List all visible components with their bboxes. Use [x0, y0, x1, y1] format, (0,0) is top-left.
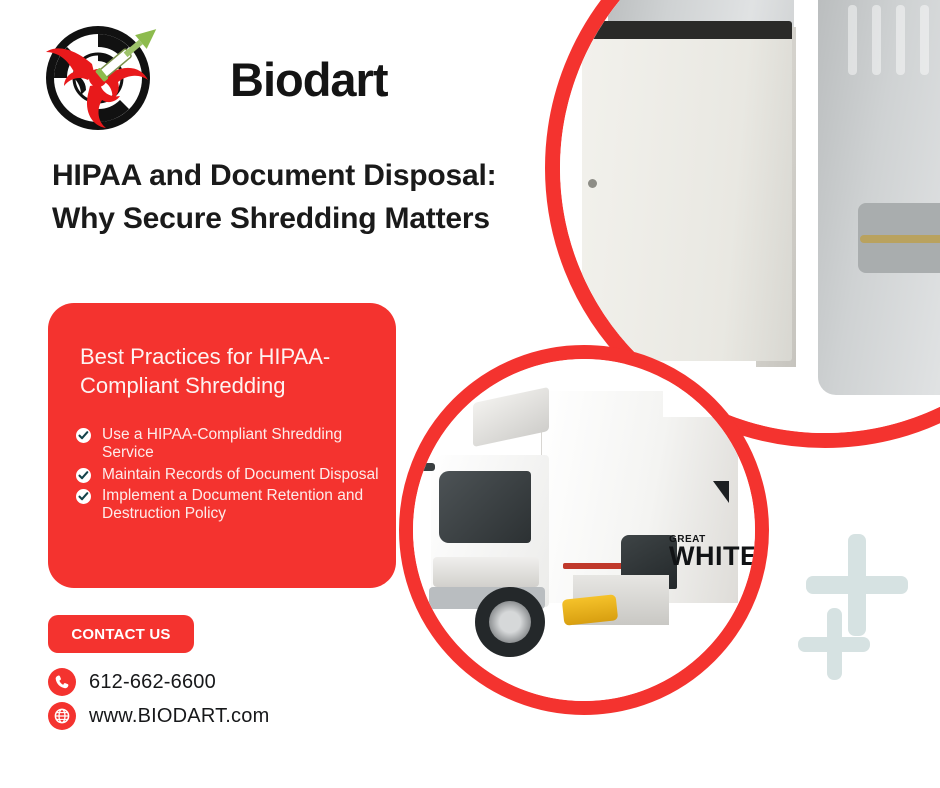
- truck-mirror: [421, 463, 435, 471]
- phone-number: 612-662-6600: [89, 671, 216, 694]
- bin-rib: [872, 5, 881, 75]
- truck-hopper: [473, 387, 549, 447]
- check-circle-icon: [76, 428, 91, 443]
- shredding-console-lock-icon: [588, 179, 597, 188]
- panel-heading: Best Practices for HIPAA-Compliant Shred…: [80, 343, 356, 400]
- plus-icon-small: [798, 608, 870, 680]
- website-contact-row[interactable]: www.BIODART.com: [48, 702, 269, 730]
- truck-windshield: [439, 471, 531, 543]
- truck-tail-lights: [563, 563, 623, 569]
- phone-icon: [48, 668, 76, 696]
- truck-brand-decal: GREAT WHITE: [669, 535, 755, 569]
- truck-box-step: [663, 381, 737, 417]
- shredding-console-slot: [582, 21, 792, 39]
- list-item: Maintain Records of Document Disposal: [76, 466, 388, 484]
- globe-icon: [48, 702, 76, 730]
- poster-canvas: GREAT WHITE: [0, 0, 940, 788]
- brand-name: Biodart: [230, 52, 388, 107]
- truck-grille: [433, 557, 539, 587]
- bin-handle-bar: [860, 235, 940, 243]
- page-title: HIPAA and Document Disposal: Why Secure …: [52, 155, 572, 240]
- list-item-label: Use a HIPAA-Compliant Shredding Service: [102, 426, 342, 461]
- contact-us-button[interactable]: CONTACT US: [48, 615, 194, 653]
- best-practices-list: Use a HIPAA-Compliant Shredding Service …: [76, 426, 388, 526]
- bin-rib: [896, 5, 905, 75]
- waste-bin-front: [818, 0, 940, 395]
- shredding-console-cabinet: [582, 31, 792, 361]
- truck-photo: GREAT WHITE: [413, 359, 755, 701]
- best-practices-panel: Best Practices for HIPAA-Compliant Shred…: [48, 303, 396, 588]
- phone-contact-row[interactable]: 612-662-6600: [48, 668, 216, 696]
- website-url: www.BIODART.com: [89, 705, 269, 728]
- list-item-label: Maintain Records of Document Disposal: [102, 466, 379, 483]
- check-circle-icon: [76, 468, 91, 483]
- page-title-line-2: Why Secure Shredding Matters: [52, 198, 572, 241]
- biohazard-dartboard-with-syringe-dart-icon: [38, 14, 186, 142]
- plus-horizontal-bar: [798, 637, 870, 652]
- bin-rib: [848, 5, 857, 75]
- page-title-line-1: HIPAA and Document Disposal:: [52, 155, 572, 198]
- list-item: Implement a Document Retention and Destr…: [76, 487, 388, 524]
- list-item: Use a HIPAA-Compliant Shredding Service: [76, 426, 388, 463]
- truck-wheel-hub: [489, 601, 531, 643]
- bin-rib: [920, 5, 929, 75]
- list-item-label: Implement a Document Retention and Destr…: [102, 487, 363, 522]
- check-circle-icon: [76, 489, 91, 504]
- plus-horizontal-bar: [806, 576, 908, 594]
- truck-brand-decal-main: WHITE: [669, 544, 755, 569]
- truck-fin-decal: [713, 481, 729, 503]
